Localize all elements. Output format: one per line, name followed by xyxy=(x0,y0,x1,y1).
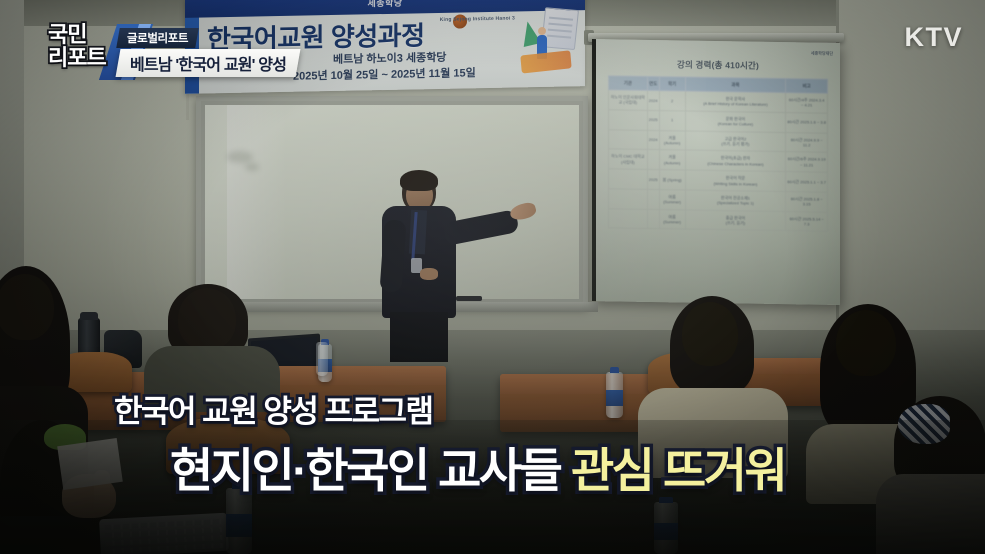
whiteboard-glare xyxy=(227,105,287,299)
slide-table-cell xyxy=(609,129,648,149)
segment-headline-bar: 베트남 '한국어 교원' 양성 xyxy=(116,49,301,77)
slide-table-cell xyxy=(647,209,659,229)
slide-table-body: 하노이 인문사회대학교 (국립대)20242한국 문학사(A Brief His… xyxy=(609,90,828,232)
slide-table-cell: 고급 한국어2(쓰기, 듣기 평가) xyxy=(685,131,786,152)
slide-table-cell: 겨울 (Autumn) xyxy=(659,150,685,170)
slide-table-cell xyxy=(647,150,659,170)
instructor-legs xyxy=(390,312,448,362)
slide-table-cell: 중급 한국어(쓰기, 듣기) xyxy=(685,210,786,231)
slide-table-cell: 한국어 전공소재1(Specialized Topic 1) xyxy=(685,190,786,211)
slide-table-cell: 2 xyxy=(659,91,685,111)
subtitle-line-2-white: 현지인·한국인 교사들 xyxy=(170,444,560,497)
subtitle-line-2-yellow: 관심 뜨거워 xyxy=(571,444,785,497)
slide-table-cell: 2025 xyxy=(647,110,659,130)
slide-table-cell xyxy=(609,189,648,209)
slide-table-cell: 60시간 2025.5.14 ~ 7.3 xyxy=(786,211,828,231)
slide-table-cell: 2024 xyxy=(647,90,659,110)
slide-table-cell: 한국어 작문(Writing Skills in Korean) xyxy=(685,170,786,191)
slide-table-cell: 2024 xyxy=(647,130,659,150)
slide-table-cell: 여름 (Summer) xyxy=(659,190,685,210)
event-poster: 세종학당 King Sejong Institute Hanoi 3 한국어교원… xyxy=(185,0,585,94)
broadcast-frame: 세종학당 King Sejong Institute Hanoi 3 한국어교원… xyxy=(0,0,985,554)
slide-table-cell: 한국어(초급) 한자(Chinese Characters in Korean) xyxy=(685,150,786,171)
slide-table-cell: 60시간 2024.9.9 ~ 11.2 xyxy=(786,132,828,152)
slide-table-cell xyxy=(609,169,648,189)
slide-table-cell: 여름 (Summer) xyxy=(659,209,685,229)
program-logo: 국민 리포트 xyxy=(48,24,106,69)
program-logo-line1: 국민 xyxy=(48,24,106,46)
water-bottle xyxy=(606,372,623,418)
slide-table-cell xyxy=(647,189,659,209)
slide-th: 연도 xyxy=(647,76,659,90)
segment-kicker: 글로벌리포트 xyxy=(116,28,199,48)
slide-th: 기관 xyxy=(609,76,648,91)
slide-table-cell: 문화 한국어(Korean for Culture) xyxy=(685,111,786,132)
segment-headline-label: 베트남 '한국어 교원' 양성 xyxy=(130,51,286,75)
slide-table-cell xyxy=(609,208,648,228)
slide-table-row: 여름 (Summer)중급 한국어(쓰기, 듣기)60시간 2025.5.14 … xyxy=(609,208,828,231)
slide-table-cell: 80시간 2025.1.6 ~ 3.8 xyxy=(786,112,828,132)
slide-table: 기관 연도 학기 과목 비고 하노이 인문사회대학교 (국립대)20242한국 … xyxy=(608,75,828,232)
segment-kicker-label: 글로벌리포트 xyxy=(127,30,188,46)
slide-content: 세종학당재단 강의 경력(총 410시간) 기관 연도 학기 과목 비고 하노이… xyxy=(596,39,840,305)
slide-th: 학기 xyxy=(659,77,685,91)
slide-title: 강의 경력(총 410시간) xyxy=(608,57,828,72)
slide-th: 과목 xyxy=(685,77,786,93)
instructor-hair xyxy=(400,170,438,191)
poster-top-label: 세종학당 xyxy=(367,0,402,9)
slide-table-cell: 60시간 2025.1.1 ~ 3.7 xyxy=(786,172,828,192)
whiteboard-smudge xyxy=(245,163,259,171)
poster-dates: 2025년 10월 25일 ~ 2025년 11월 15일 xyxy=(293,64,476,84)
slide-table-cell: 60시간 2025.1.8 ~ 3.15 xyxy=(786,192,828,212)
instructor xyxy=(358,172,528,352)
slide-table-cell: 하노이 인문사회대학교 (국립대) xyxy=(609,90,648,110)
whiteboard-smudge xyxy=(227,151,253,163)
slide-table-cell: 한국 문학사(A Brief History of Korean Literat… xyxy=(685,91,786,112)
slide-table-cell xyxy=(609,110,648,130)
program-logo-line2: 리포트 xyxy=(48,47,106,69)
projector-screen: 세종학당재단 강의 경력(총 410시간) 기관 연도 학기 과목 비고 하노이… xyxy=(592,39,840,305)
slide-table-cell: 60시간/4주 2024.3.4 ~ 4.21 xyxy=(786,93,828,113)
poster-illustration xyxy=(487,4,583,86)
slide-th: 비고 xyxy=(786,79,828,94)
slide-table-cell: 2025 xyxy=(647,170,659,190)
instructor-left-hand xyxy=(420,268,438,280)
subtitle-line-1: 한국어 교원 양성 프로그램 xyxy=(114,386,433,431)
slide-logo: 세종학당재단 xyxy=(811,50,833,56)
slide-table-cell: 60시간/6주 2024.9.19 ~ 11.21 xyxy=(786,152,828,172)
slide-table-cell: 하노이 CMC 대학교 (사립대) xyxy=(609,149,648,169)
slide-table-cell: 겨울 (Autumn) xyxy=(659,130,685,150)
desk-icon xyxy=(520,50,571,73)
slide-table-cell: 봄 (Spring) xyxy=(659,170,685,190)
slide-table-cell: 1 xyxy=(659,110,685,130)
subtitle-line-2: 현지인·한국인 교사들 관심 뜨거워 xyxy=(170,432,785,501)
water-bottle xyxy=(316,342,328,376)
channel-bug-ktv: KTV xyxy=(905,22,964,53)
